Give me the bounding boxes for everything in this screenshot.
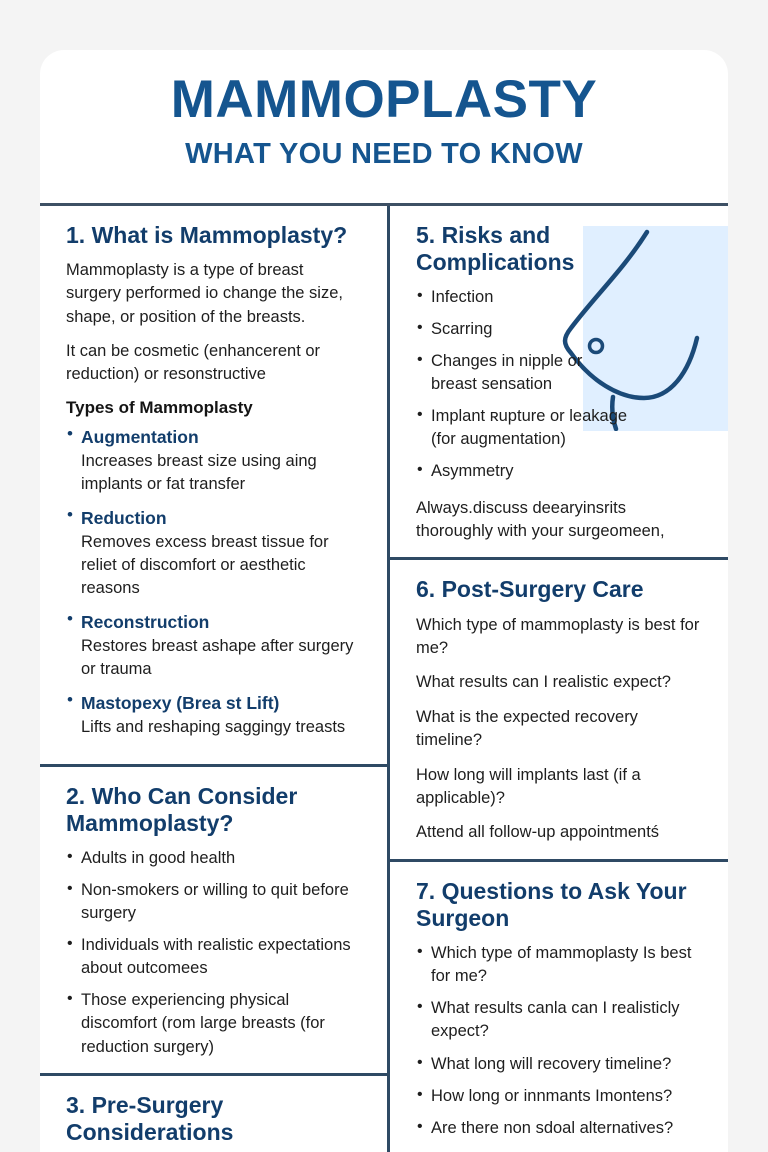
paragraph: How long will implants last (if a applic… (416, 764, 702, 811)
list-item: Changes in nipple or breast sensation (416, 350, 631, 396)
types-subheading: Types of Mammoplasty (66, 398, 361, 418)
eligibility-list: Adults in good health Non-smokers or wil… (66, 847, 361, 1059)
section-heading: 7. Questions to Ask Your Surgeon (416, 878, 702, 932)
list-item: Implant ʀupture or leakage (for augmenta… (416, 405, 631, 451)
list-item: Those experiencing physical discomfort (… (66, 989, 361, 1058)
list-item: Scarring (416, 318, 631, 341)
list-item: What long will recovery timeline? (416, 1053, 702, 1076)
list-item: Which type of mammoplasty Is best for me… (416, 942, 702, 988)
type-description: Removes excess breast tissue for reliet … (81, 531, 361, 600)
list-item: Augmentation Increases breast size using… (66, 426, 361, 496)
paragraph: Attend all follow-up appointmentś (416, 821, 702, 844)
type-name: Reduction (81, 507, 361, 530)
type-description: Increases breast size using aing implant… (81, 450, 361, 496)
list-item: Reconstruction Restores breast ashape af… (66, 611, 361, 681)
page-title: MAMMOPLASTY (54, 72, 714, 128)
section-heading: 1. What is Mammoplasty? (66, 222, 361, 249)
section-who-can-consider: 2. Who Can Consider Mammoplasty? Adults … (40, 767, 387, 1076)
infographic-page: MAMMOPLASTY WHAT YOU NEED TO KNOW 1. Wha… (0, 0, 768, 1152)
list-item: Non-smokers or willing to quit before su… (66, 879, 361, 925)
list-item: Asymmetry (416, 460, 631, 483)
list-item: Infection (416, 286, 631, 309)
section-heading: 2. Who Can Consider Mammoplasty? (66, 783, 361, 837)
page-subtitle: WHAT YOU NEED TO KNOW (54, 138, 714, 171)
list-item: What results canla can I realisticly exp… (416, 997, 702, 1043)
section-heading: 6. Post-Surgery Care (416, 576, 702, 603)
list-item: Individuals with realistic expectations … (66, 934, 361, 980)
list-item: Are there non sdoal alternatives? (416, 1117, 702, 1140)
risks-note: Always.discuss deearyinsrits thoroughly … (416, 497, 702, 544)
right-column: 5. Risks and Complications Infection Sca… (387, 206, 728, 1152)
list-item: Mastopexy (Brea st Lift) Lifts and resha… (66, 692, 361, 739)
section-risks-and-complications: 5. Risks and Complications Infection Sca… (390, 206, 728, 561)
paragraph: Which type of mammoplasty is best for me… (416, 614, 702, 661)
type-name: Mastopexy (Brea st Lift) (81, 692, 361, 715)
header: MAMMOPLASTY WHAT YOU NEED TO KNOW (40, 50, 728, 185)
list-item: How long or innmants Imontens? (416, 1085, 702, 1108)
content-columns: 1. What is Mammoplasty? Mammoplasty is a… (40, 206, 728, 1152)
paragraph: What is the expected recovery timeline? (416, 706, 702, 753)
section-questions-to-ask: 7. Questions to Ask Your Surgeon Which t… (390, 862, 728, 1152)
type-name: Augmentation (81, 426, 361, 449)
list-item: Adults in good health (66, 847, 361, 870)
section-what-is-mammoplasty: 1. What is Mammoplasty? Mammoplasty is a… (40, 206, 387, 767)
infographic-card: MAMMOPLASTY WHAT YOU NEED TO KNOW 1. Wha… (40, 50, 728, 1152)
type-description: Restores breast ashape after surgery or … (81, 635, 361, 681)
paragraph: What results can I realistic expect? (416, 671, 702, 694)
section-pre-surgery-considerations: 3. Pre-Surgery Considerations Meginal ev… (40, 1076, 387, 1152)
type-description: Lifts and reshaping saggingy treasts (81, 716, 361, 739)
paragraph: Mammoplasty is a type of breast surgery … (66, 259, 361, 329)
paragraph: It can be cosmetic (enhancerent or reduc… (66, 340, 361, 387)
left-column: 1. What is Mammoplasty? Mammoplasty is a… (40, 206, 387, 1152)
type-name: Reconstruction (81, 611, 361, 634)
questions-list: Which type of mammoplasty Is best for me… (416, 942, 702, 1140)
section-heading: 3. Pre-Surgery Considerations (66, 1092, 361, 1146)
types-list: Augmentation Increases breast size using… (66, 426, 361, 739)
list-item: Reduction Removes excess breast tissue f… (66, 507, 361, 600)
section-post-surgery-care: 6. Post-Surgery Care Which type of mammo… (390, 560, 728, 862)
